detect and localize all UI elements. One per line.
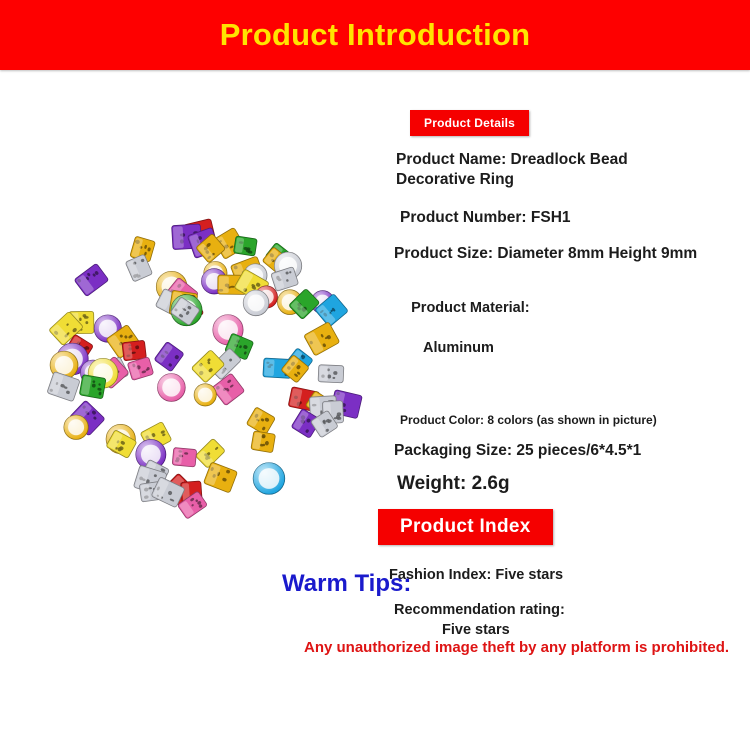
spec-product-material: Product Material: Aluminum — [395, 280, 748, 397]
page-title: Product Introduction — [220, 17, 531, 53]
product-photo-illustration — [18, 198, 390, 530]
spec-material-value: Aluminum — [395, 339, 748, 359]
index-recommendation: Recommendation rating: Five stars — [394, 600, 748, 640]
spec-weight: Weight: 2.6g — [397, 473, 748, 495]
copyright-warning: Any unauthorized image theft by any plat… — [304, 639, 729, 656]
index-fashion: Fashion Index: Five stars — [389, 567, 748, 583]
spec-material-label: Product Material: — [411, 300, 529, 316]
product-index-badge: Product Index — [378, 509, 553, 545]
details-column: Product Details Product Name: Dreadlock … — [388, 100, 748, 640]
spec-product-name: Product Name: Dreadlock Bead Decorative … — [396, 150, 651, 191]
warm-tips-heading: Warm Tips: — [282, 570, 411, 598]
product-details-badge: Product Details — [410, 110, 529, 136]
index-recommendation-label: Recommendation rating: — [394, 602, 565, 618]
spec-product-color: Product Color: 8 colors (as shown in pic… — [400, 413, 748, 427]
spec-product-size: Product Size: Diameter 8mm Height 9mm — [394, 245, 748, 263]
header-banner: Product Introduction — [0, 0, 750, 70]
index-recommendation-value: Five stars — [394, 620, 748, 640]
product-photo — [18, 198, 390, 530]
spec-packaging-size: Packaging Size: 25 pieces/6*4.5*1 — [394, 442, 748, 460]
spec-product-number: Product Number: FSH1 — [400, 209, 748, 227]
